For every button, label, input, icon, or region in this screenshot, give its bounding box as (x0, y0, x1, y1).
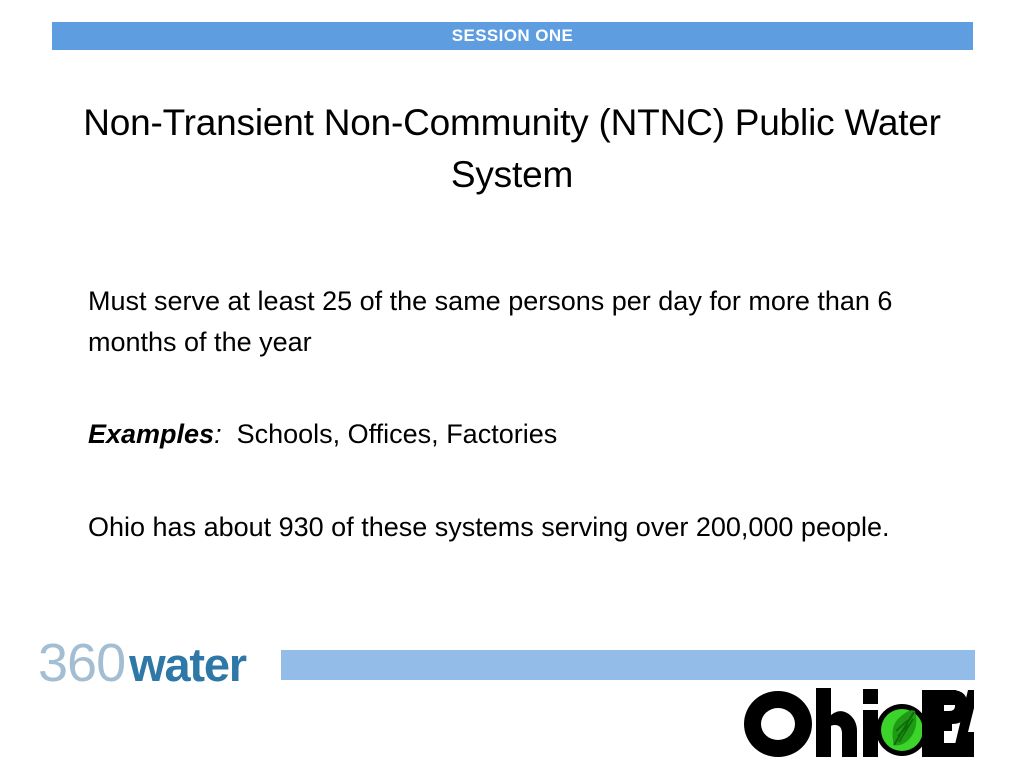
body-paragraph-examples: Examples: Schools, Offices, Factories (88, 414, 986, 455)
examples-list: Schools, Offices, Factories (222, 419, 558, 449)
brand-logo-suffix: water (129, 641, 246, 688)
body-paragraph-statistics: Ohio has about 930 of these systems serv… (88, 507, 986, 548)
agency-logo-text-part-two (922, 690, 956, 757)
leaf-icon (876, 704, 928, 756)
body-paragraph-requirement: Must serve at least 25 of the same perso… (88, 281, 986, 363)
examples-separator: : (214, 419, 222, 449)
footer-accent-bar (281, 650, 975, 680)
agency-logo-text-part-one (744, 688, 878, 757)
session-banner-label: SESSION ONE (452, 26, 574, 46)
slide-canvas: SESSION ONE Non-Transient Non-Community … (0, 0, 1024, 768)
examples-emphasis-label: Examples (88, 419, 214, 449)
session-banner: SESSION ONE (52, 22, 973, 50)
agency-logo-ohioepa (742, 688, 974, 760)
brand-logo-360water: 360water (38, 636, 246, 692)
agency-logo-artwork (742, 688, 974, 760)
brand-logo-prefix: 360 (38, 636, 125, 690)
page-title: Non-Transient Non-Community (NTNC) Publi… (42, 97, 982, 201)
